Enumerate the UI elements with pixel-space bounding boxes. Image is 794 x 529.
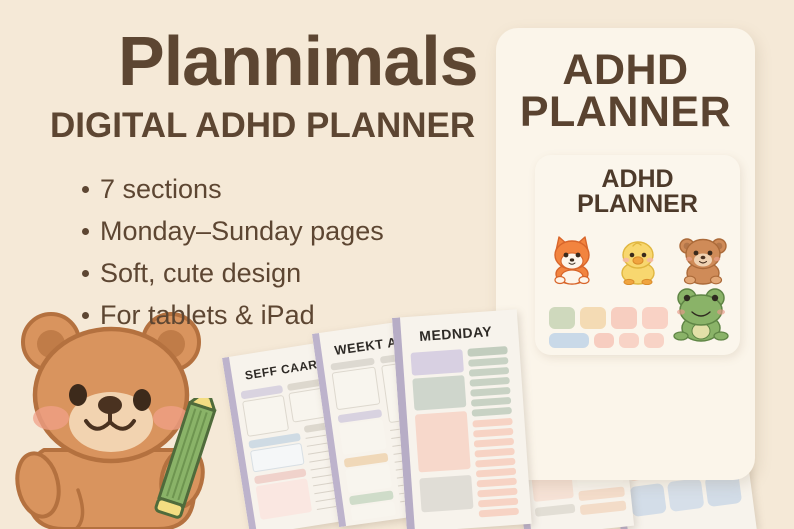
monday-time-slot xyxy=(468,357,508,367)
pencil-icon xyxy=(150,398,220,528)
page-subtitle: DIGITAL ADHD PLANNER xyxy=(50,108,475,143)
list-item-label: Monday–Sunday pages xyxy=(100,218,384,245)
monday-time-slot xyxy=(476,468,516,478)
color-swatch xyxy=(549,333,589,348)
bear-illustration xyxy=(678,233,728,285)
self-care-reflection-box xyxy=(255,478,312,520)
promo-graphic: ADHD PLANNER ADHD PLANNER xyxy=(0,0,794,529)
color-swatch xyxy=(580,307,606,329)
affirmation-tile xyxy=(629,483,667,517)
bullet-icon xyxy=(82,186,89,193)
product-card: ADHD PLANNER ADHD PLANNER xyxy=(496,28,755,480)
color-swatch xyxy=(611,307,637,329)
weekly-schedule-box xyxy=(345,464,392,494)
monday-time-slot xyxy=(469,377,509,387)
inner-card-title-line2: PLANNER xyxy=(577,190,698,218)
monday-time-slot xyxy=(473,428,513,438)
monday-time-slot xyxy=(469,367,509,377)
monday-time-slot xyxy=(475,458,515,468)
color-swatch xyxy=(644,333,664,348)
monday-time-slot xyxy=(474,438,514,448)
bullet-icon xyxy=(82,228,89,235)
feature-list: 7 sections Monday–Sunday pages Soft, cut… xyxy=(82,176,384,344)
page-title: Plannimals xyxy=(118,26,478,96)
monday-time-slot xyxy=(477,478,517,488)
monday-time-slot xyxy=(479,508,519,518)
monday-time-slot xyxy=(472,407,512,417)
monday-schedule-header xyxy=(467,346,507,357)
list-item: Soft, cute design xyxy=(82,260,384,287)
list-item-label: For tablets & iPad xyxy=(100,302,315,329)
swatch-row-1 xyxy=(549,307,669,329)
product-card-title-line2: PLANNER xyxy=(520,88,731,136)
list-item-label: Soft, cute design xyxy=(100,260,301,287)
monday-focus-block xyxy=(412,375,466,411)
self-care-page-title: SEFF CAARE xyxy=(244,356,327,383)
animal-row xyxy=(547,233,728,285)
list-item: For tablets & iPad xyxy=(82,302,384,329)
monday-page-title: MEDNDAY xyxy=(393,321,519,346)
monday-time-slot xyxy=(474,448,514,458)
mood-footer-block xyxy=(535,504,576,517)
frog-holder xyxy=(670,284,732,349)
swatch-row-2 xyxy=(549,333,669,348)
monday-time-slot xyxy=(472,418,512,428)
frog-illustration xyxy=(670,284,732,344)
product-card-title: ADHD PLANNER xyxy=(496,50,755,133)
list-item-label: 7 sections xyxy=(100,176,222,203)
inner-card-title-line1: ADHD xyxy=(601,165,673,193)
pencil-illustration xyxy=(150,398,220,523)
inner-card-title: ADHD PLANNER xyxy=(535,167,740,217)
color-swatch xyxy=(549,307,575,329)
weekly-habits-box xyxy=(339,419,387,455)
bullet-icon xyxy=(82,270,89,277)
monday-time-slot xyxy=(471,397,511,407)
weekly-goals-box xyxy=(332,367,381,411)
bullet-icon xyxy=(82,312,89,319)
monday-notes-block xyxy=(419,475,473,513)
monday-time-slot xyxy=(470,387,510,397)
monday-time-slot xyxy=(477,488,517,498)
color-swatch xyxy=(594,333,614,348)
monday-page: MEDNDAY xyxy=(392,309,532,529)
product-card-inner: ADHD PLANNER xyxy=(535,155,740,355)
monday-time-slot xyxy=(478,498,518,508)
color-swatch xyxy=(642,307,668,329)
monday-priority-block xyxy=(410,349,463,376)
fox-illustration xyxy=(547,233,597,285)
color-swatch xyxy=(619,333,639,348)
mood-accent-block xyxy=(580,500,627,515)
list-item: 7 sections xyxy=(82,176,384,203)
duck-illustration xyxy=(615,235,661,285)
affirmation-tile xyxy=(667,478,705,512)
monday-braindump-block xyxy=(415,411,471,472)
self-care-intentions-box xyxy=(242,395,289,437)
mood-highlight-block xyxy=(578,486,625,501)
list-item: Monday–Sunday pages xyxy=(82,218,384,245)
